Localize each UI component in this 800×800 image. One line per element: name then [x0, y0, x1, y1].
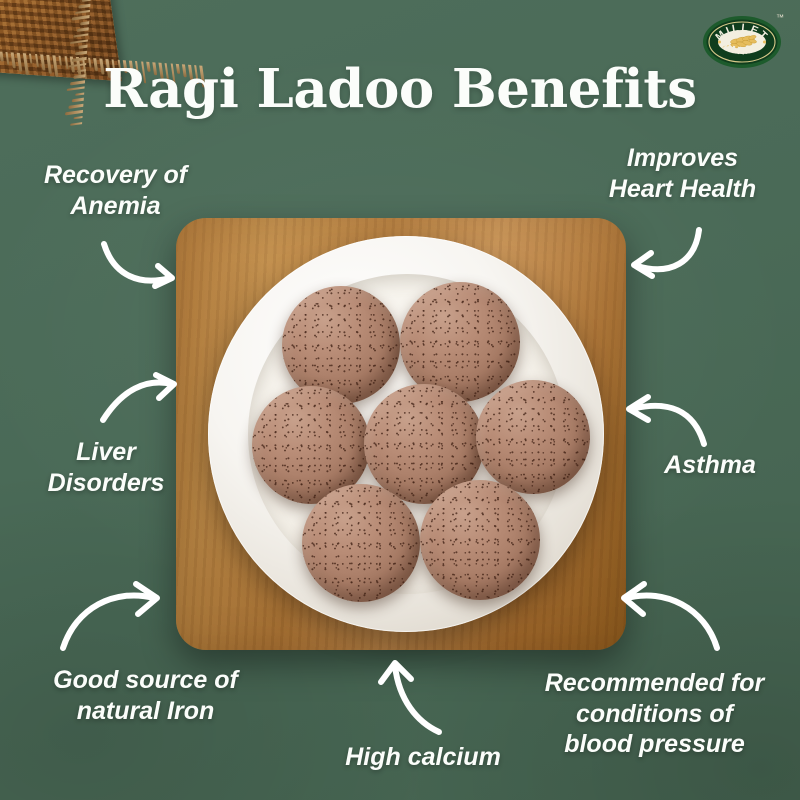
page-title: Ragi Ladoo Benefits: [0, 58, 800, 120]
arrow-icon-liver: [100, 372, 184, 430]
arrow-icon-high-calcium: [373, 658, 445, 736]
benefit-label-natural-iron: Good source of natural Iron: [8, 665, 283, 726]
benefit-label-asthma: Asthma: [630, 450, 790, 481]
trademark-symbol: ™: [776, 13, 784, 22]
poster-canvas: MILLET AMMA ™ Ragi Ladoo Benefits Recove…: [0, 0, 800, 800]
arrow-icon-anemia: [100, 232, 186, 294]
ladoo-ball: [302, 484, 420, 602]
ladoo-ball: [476, 380, 590, 494]
benefit-label-liver-disorders: Liver Disorders: [6, 437, 206, 498]
benefit-label-anemia: Recovery of Anemia: [8, 160, 223, 221]
benefit-label-blood-pressure: Recommended for conditions of blood pres…: [512, 668, 797, 760]
arrow-icon-heart-health: [615, 226, 705, 288]
white-bowl: [208, 236, 604, 632]
arrow-icon-asthma: [618, 392, 710, 450]
benefit-label-high-calcium: High calcium: [318, 742, 528, 773]
ladoo-ball: [420, 480, 540, 600]
arrow-icon-natural-iron: [58, 578, 168, 652]
arrow-icon-blood-pressure: [613, 578, 723, 652]
ragi-ladoo-photo: [176, 218, 626, 650]
benefit-label-heart-health: Improves Heart Health: [570, 143, 795, 204]
